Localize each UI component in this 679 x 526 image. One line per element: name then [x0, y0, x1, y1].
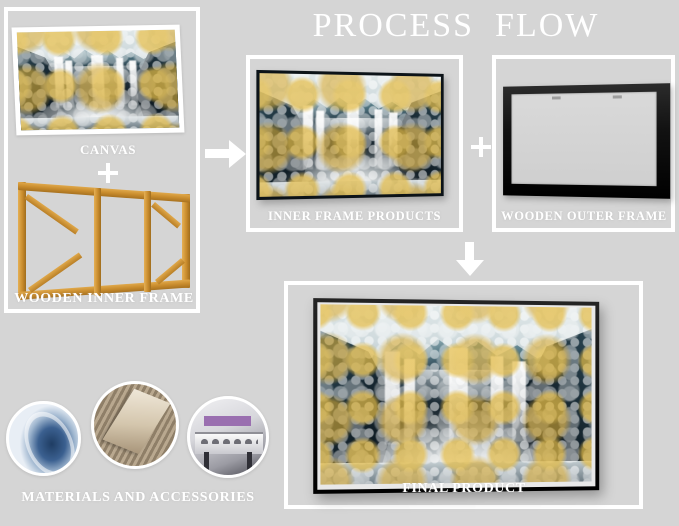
final-product-image [313, 298, 599, 494]
plus-inner-outer-frame [471, 137, 491, 157]
label-wooden-outer-frame: WOODEN OUTER FRAME [494, 209, 674, 224]
canvas-image [12, 25, 185, 136]
waterfall-artwork-icon [17, 30, 179, 131]
material-printer [187, 396, 269, 478]
arrow-down-icon [456, 242, 484, 276]
label-canvas: CANVAS [48, 142, 168, 158]
frame-hook-icon [552, 96, 561, 99]
page-title: PROCESS FLOW [276, 4, 636, 48]
label-inner-frame-products: INNER FRAME PRODUCTS [250, 209, 459, 224]
label-wooden-inner-frame: WOODEN INNER FRAME [14, 291, 194, 307]
material-canvas-roll [6, 401, 81, 476]
frame-hook-icon [613, 95, 622, 98]
wooden-outer-frame-image [503, 83, 670, 199]
label-final-product: FINAL PRODUCT [344, 481, 584, 497]
material-wood-boards [91, 381, 179, 469]
waterfall-artwork-icon [320, 304, 591, 484]
arrow-right-icon [205, 140, 249, 168]
plus-canvas-inner-frame [98, 163, 118, 183]
label-materials-and-accessories: MATERIALS AND ACCESSORIES [10, 490, 266, 506]
process-flow-infographic: PROCESS FLOW CANVAS WOODEN INNER FRAME [0, 0, 679, 526]
inner-frame-product-image [256, 70, 443, 200]
wooden-inner-frame-image [18, 182, 190, 300]
waterfall-artwork-icon [260, 73, 441, 197]
